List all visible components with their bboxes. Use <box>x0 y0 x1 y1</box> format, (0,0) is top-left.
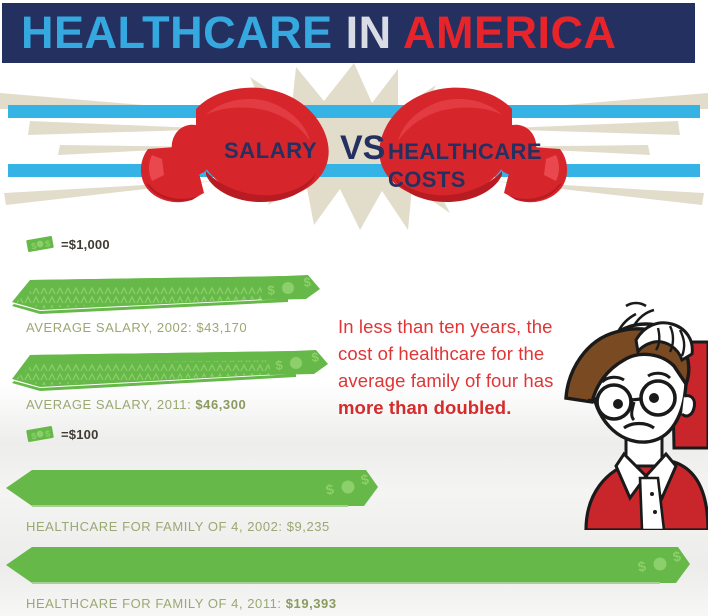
legend-hundred: $ $ =$100 <box>25 425 99 443</box>
title-word-healthcare: HEALTHCARE <box>21 7 333 58</box>
bar-label-prefix: AVERAGE SALARY, 2002: <box>26 320 196 335</box>
worried-man-illustration <box>562 298 708 530</box>
callout-text-bold: more than doubled. <box>338 397 511 418</box>
boxing-glove-right-icon <box>379 88 567 203</box>
legend-thousand: $ $ =$1,000 <box>25 235 110 253</box>
title-banner: HEALTHCARE IN AMERICA <box>2 3 695 63</box>
bar-label-value: $19,393 <box>286 596 337 611</box>
boxing-gloves-graphic <box>0 63 708 230</box>
legend-thousand-label: =$1,000 <box>61 237 110 252</box>
worried-man-graphic <box>562 298 708 530</box>
legend-hundred-label: =$100 <box>61 427 99 442</box>
money-bill-icon: $ $ <box>25 235 55 253</box>
bar-average-salary-2011: $ $ <box>0 345 340 398</box>
bar-average-salary-2002: $ $ <box>0 268 330 321</box>
page-title: HEALTHCARE IN AMERICA <box>2 10 617 56</box>
bar-solid-graphic: $ $ <box>0 465 390 513</box>
bar-label-prefix: AVERAGE SALARY, 2011: <box>26 397 195 412</box>
bar-stacked-bills-graphic: $ $ <box>0 345 340 393</box>
callout-text-normal: In less than ten years, the cost of heal… <box>338 316 553 391</box>
money-bill-icon: $ $ <box>25 425 55 443</box>
bar-solid-graphic: $ $ <box>0 542 708 590</box>
boxing-glove-left-icon <box>141 88 329 203</box>
bar-label-average-salary-2002: AVERAGE SALARY, 2002: $43,170 <box>26 320 247 335</box>
bar-stacked-bills-graphic: $ $ <box>0 268 330 316</box>
bar-label-value: $46,300 <box>195 397 246 412</box>
bar-label-prefix: HEALTHCARE FOR FAMILY OF 4, 2011: <box>26 596 286 611</box>
versus-hero: SALARY VS HEALTHCARE COSTS <box>0 63 708 230</box>
bar-label-average-salary-2011: AVERAGE SALARY, 2011: $46,300 <box>26 397 246 412</box>
bar-label-healthcare-family-2011: HEALTHCARE FOR FAMILY OF 4, 2011: $19,39… <box>26 596 337 611</box>
bar-label-value: $9,235 <box>287 519 330 534</box>
infographic-root: HEALTHCARE IN AMERICA <box>0 0 708 616</box>
bar-label-prefix: HEALTHCARE FOR FAMILY OF 4, 2002: <box>26 519 287 534</box>
title-word-america: AMERICA <box>403 7 617 58</box>
bar-label-healthcare-family-2002: HEALTHCARE FOR FAMILY OF 4, 2002: $9,235 <box>26 519 330 534</box>
callout-text: In less than ten years, the cost of heal… <box>338 313 566 421</box>
bar-healthcare-family-2002: $ $ <box>0 465 390 518</box>
bar-label-value: $43,170 <box>196 320 247 335</box>
bar-healthcare-family-2011: $ $ <box>0 542 708 595</box>
title-word-in: IN <box>346 7 392 58</box>
